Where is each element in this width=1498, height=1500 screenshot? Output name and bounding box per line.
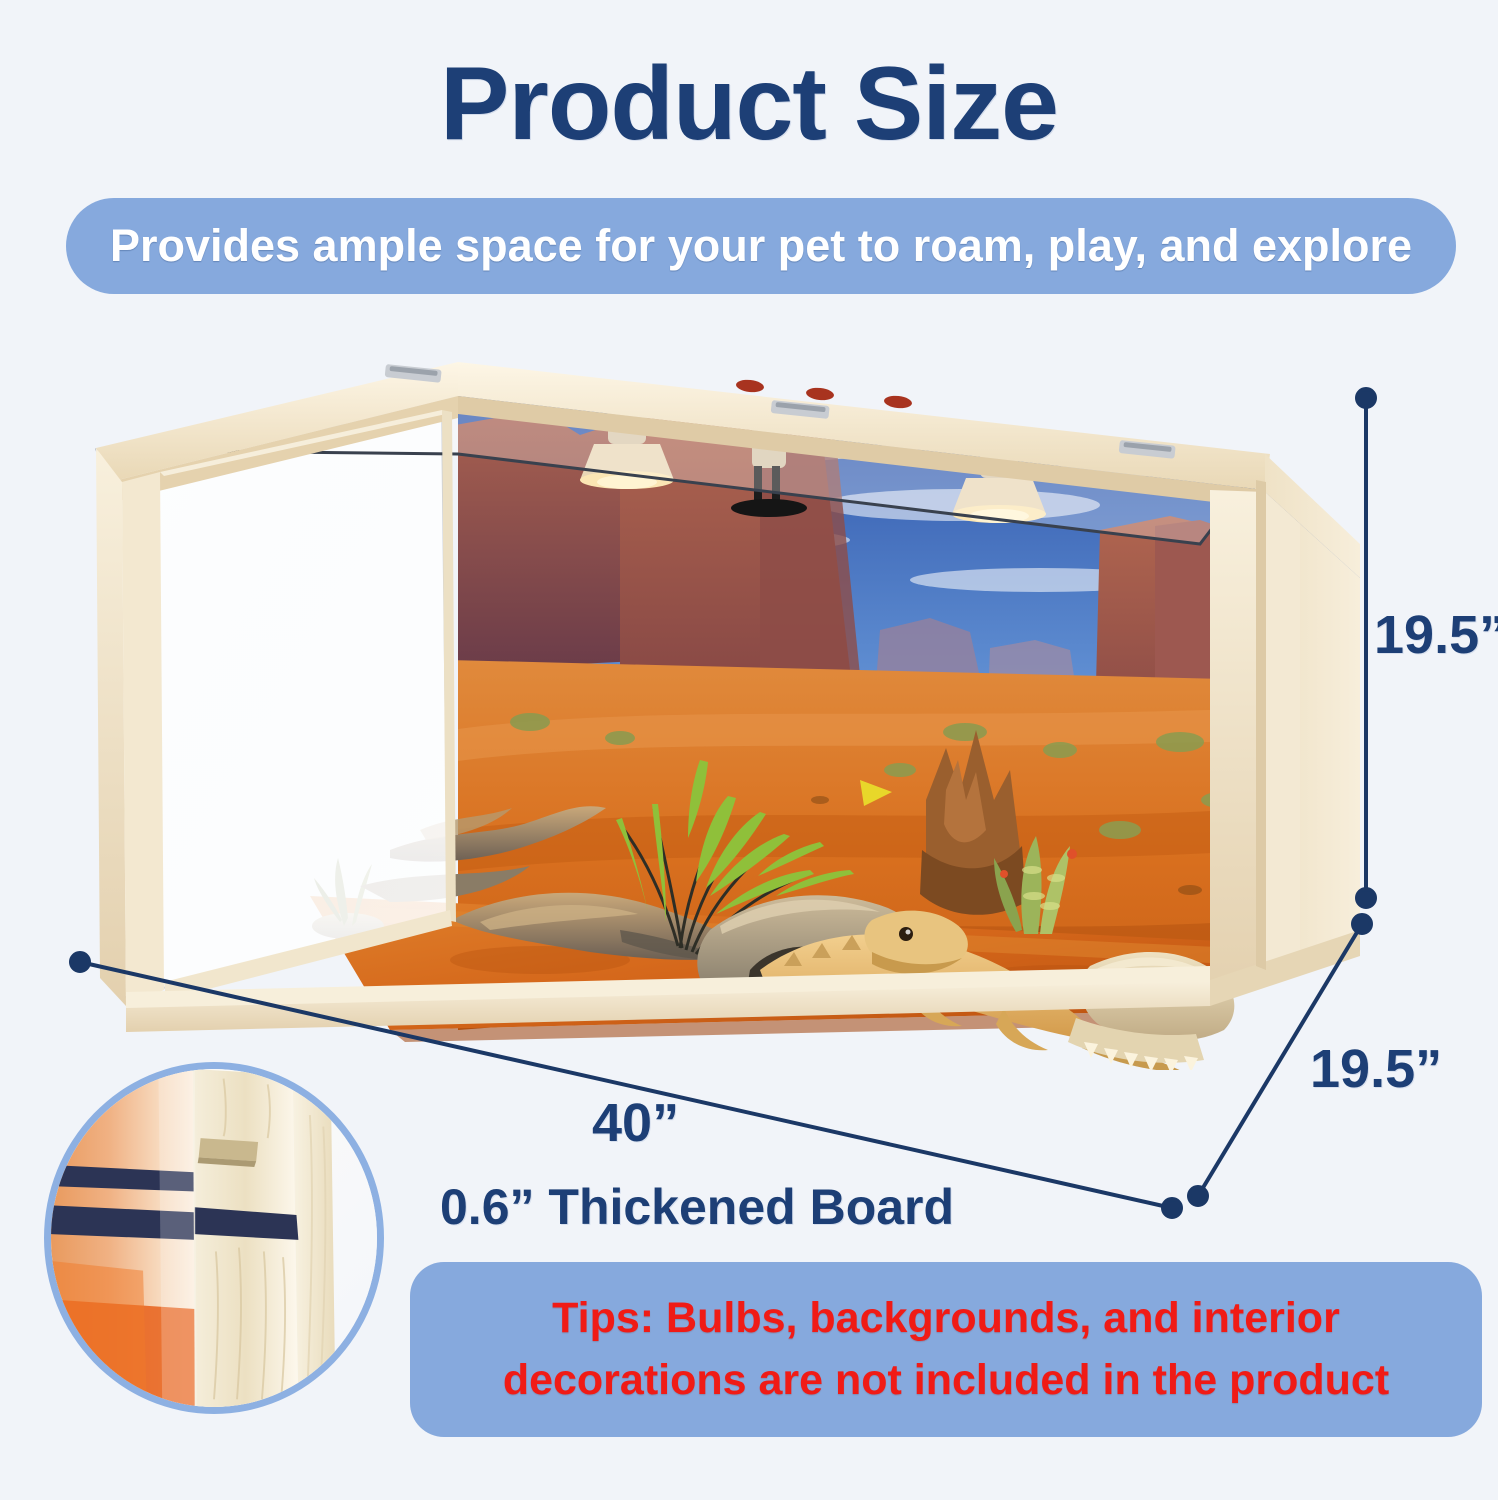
width-dimension-label: 40” [592, 1092, 679, 1154]
tips-banner: Tips: Bulbs, backgrounds, and interior d… [410, 1262, 1482, 1437]
tips-line-2: decorations are not included in the prod… [503, 1358, 1389, 1403]
tips-line-1: Tips: Bulbs, backgrounds, and interior [552, 1296, 1340, 1341]
corner-joint-inset [44, 1062, 384, 1414]
board-thickness-label: 0.6” Thickened Board [440, 1178, 954, 1236]
subtitle-text: Provides ample space for your pet to roa… [110, 220, 1412, 272]
glass-front-panel [118, 410, 448, 998]
height-dimension-label: 19.5” [1374, 604, 1498, 666]
page-title: Product Size [0, 52, 1498, 156]
product-illustration [60, 330, 1360, 1070]
infographic-canvas: Product Size Provides ample space for yo… [0, 0, 1498, 1500]
depth-dimension-label: 19.5” [1310, 1038, 1442, 1100]
subtitle-banner: Provides ample space for your pet to roa… [66, 198, 1456, 294]
